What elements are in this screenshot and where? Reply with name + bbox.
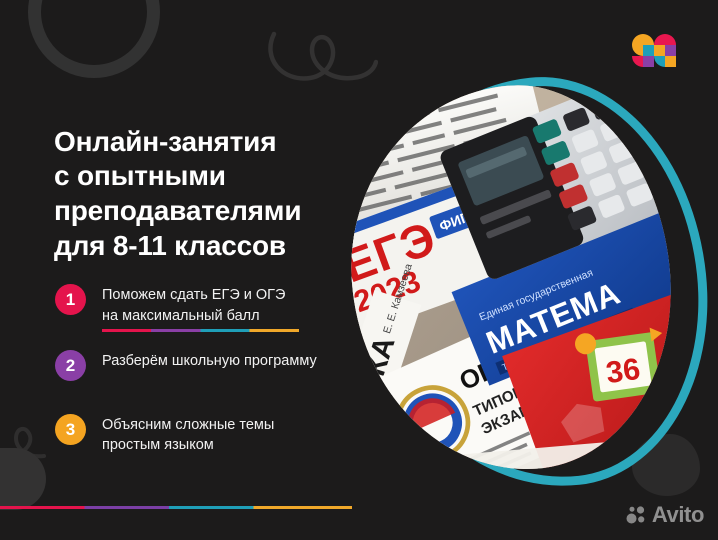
- list-item: 1 Поможем сдать ЕГЭ и ОГЭ на максимальны…: [55, 284, 365, 332]
- feature-text-1: Поможем сдать ЕГЭ и ОГЭ на максимальный …: [102, 284, 365, 326]
- list-item: 3 Объясним сложные темы простым языком: [55, 414, 365, 460]
- blob-decoration-bottom-left: [0, 448, 46, 510]
- headline-line-4: для 8-11 классов: [54, 229, 354, 264]
- feature-underline-accent: [102, 329, 299, 332]
- feature-number-badge-3: 3: [55, 414, 86, 445]
- promo-banner: ЕГЭ 2023 ФИПИ ФИЗИКА Е. Е. Камзеева: [0, 0, 718, 540]
- page-title: Онлайн-занятия с опытными преподавателям…: [54, 125, 354, 264]
- headline-line-1: Онлайн-занятия: [54, 125, 354, 160]
- feature-text-3: Объясним сложные темы простым языком: [102, 414, 365, 456]
- avito-watermark: Avito: [626, 504, 704, 526]
- squiggle-decoration-bottom: [0, 416, 54, 462]
- avito-logo-icon: [626, 505, 646, 525]
- headline-line-2: с опытными: [54, 159, 354, 194]
- svg-text:36: 36: [604, 352, 642, 390]
- headline-line-3: преподавателями: [54, 194, 354, 229]
- feature-number-badge-2: 2: [55, 350, 86, 381]
- photo-blob-mask: ЕГЭ 2023 ФИПИ ФИЗИКА Е. Е. Камзеева: [339, 75, 683, 480]
- feature-list: 1 Поможем сдать ЕГЭ и ОГЭ на максимальны…: [55, 284, 365, 460]
- feature-text-1-line-1: Поможем сдать ЕГЭ и ОГЭ: [102, 285, 365, 306]
- feature-text-2: Разберём школьную программу: [102, 350, 365, 372]
- feature-text-3-line-1: Объясним сложные темы: [102, 415, 365, 436]
- bottom-accent-bar: [0, 506, 352, 509]
- list-item: 2 Разберём школьную программу: [55, 350, 365, 396]
- brand-logo-icon: [632, 32, 676, 72]
- hero-photo: ЕГЭ 2023 ФИПИ ФИЗИКА Е. Е. Камзеева: [352, 76, 692, 484]
- avito-wordmark: Avito: [652, 504, 704, 526]
- feature-text-1-line-2: на максимальный балл: [102, 306, 365, 327]
- feature-number-badge-1: 1: [55, 284, 86, 315]
- ring-decoration: [28, 0, 160, 78]
- feature-text-2-line-1: Разберём школьную программу: [102, 351, 365, 372]
- feature-text-3-line-2: простым языком: [102, 435, 365, 456]
